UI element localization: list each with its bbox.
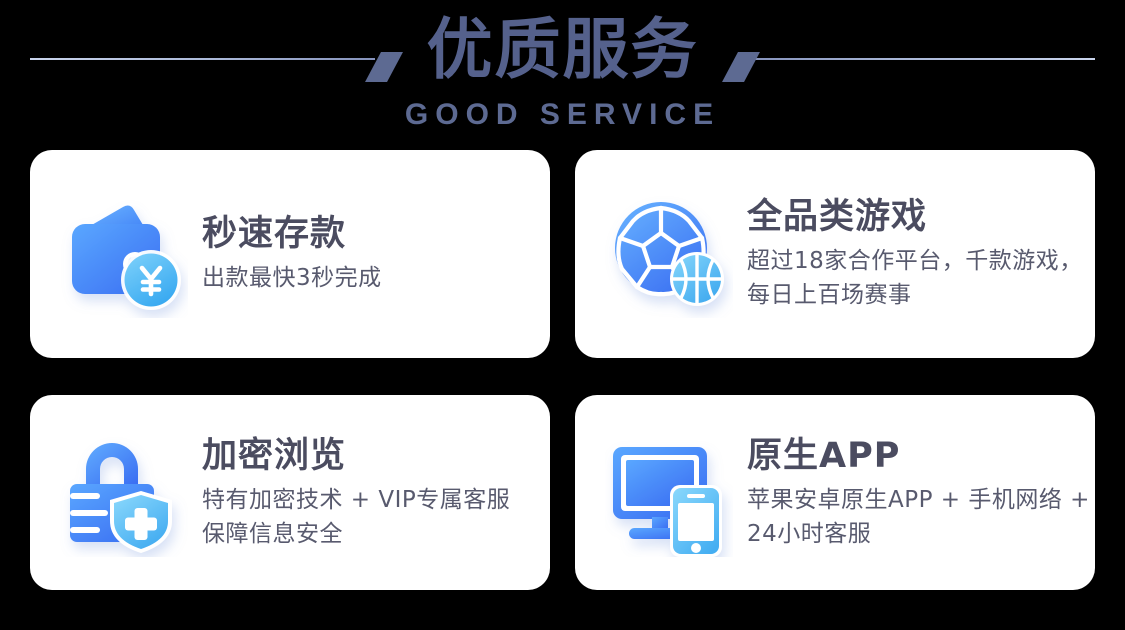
card-title: 全品类游戏 <box>747 196 1092 238</box>
card-subtitle: 超过18家合作平台，千款游戏，每日上百场赛事 <box>747 244 1092 312</box>
card-text-block: 秒速存款 出款最快3秒完成 <box>202 213 382 295</box>
card-text-block: 加密浏览 特有加密技术 + VIP专属客服保障信息安全 <box>202 435 532 551</box>
card-text-block: 原生APP 苹果安卓原生APP + 手机网络 + 24小时客服 <box>747 435 1092 551</box>
feature-card-grid: 秒速存款 出款最快3秒完成 <box>30 150 1095 590</box>
card-subtitle: 特有加密技术 + VIP专属客服保障信息安全 <box>202 483 532 551</box>
page-title: 优质服务 <box>0 12 1125 88</box>
wallet-yen-icon <box>60 190 188 318</box>
card-subtitle: 出款最快3秒完成 <box>202 261 382 295</box>
feature-card-native-app[interactable]: 原生APP 苹果安卓原生APP + 手机网络 + 24小时客服 <box>575 395 1095 590</box>
soccer-basketball-icon <box>605 190 733 318</box>
promo-page: 优质服务 GOOD SERVICE <box>0 0 1125 630</box>
feature-card-games[interactable]: 全品类游戏 超过18家合作平台，千款游戏，每日上百场赛事 <box>575 150 1095 358</box>
page-header: 优质服务 GOOD SERVICE <box>0 0 1125 145</box>
card-subtitle: 苹果安卓原生APP + 手机网络 + 24小时客服 <box>747 483 1092 551</box>
feature-card-encryption[interactable]: 加密浏览 特有加密技术 + VIP专属客服保障信息安全 <box>30 395 550 590</box>
lock-shield-icon <box>60 429 188 557</box>
card-text-block: 全品类游戏 超过18家合作平台，千款游戏，每日上百场赛事 <box>747 196 1092 312</box>
card-title: 原生APP <box>747 435 1092 477</box>
card-title: 秒速存款 <box>202 213 382 255</box>
card-title: 加密浏览 <box>202 435 532 477</box>
feature-card-deposit[interactable]: 秒速存款 出款最快3秒完成 <box>30 150 550 358</box>
monitor-phone-icon <box>605 429 733 557</box>
page-subtitle: GOOD SERVICE <box>0 98 1125 132</box>
